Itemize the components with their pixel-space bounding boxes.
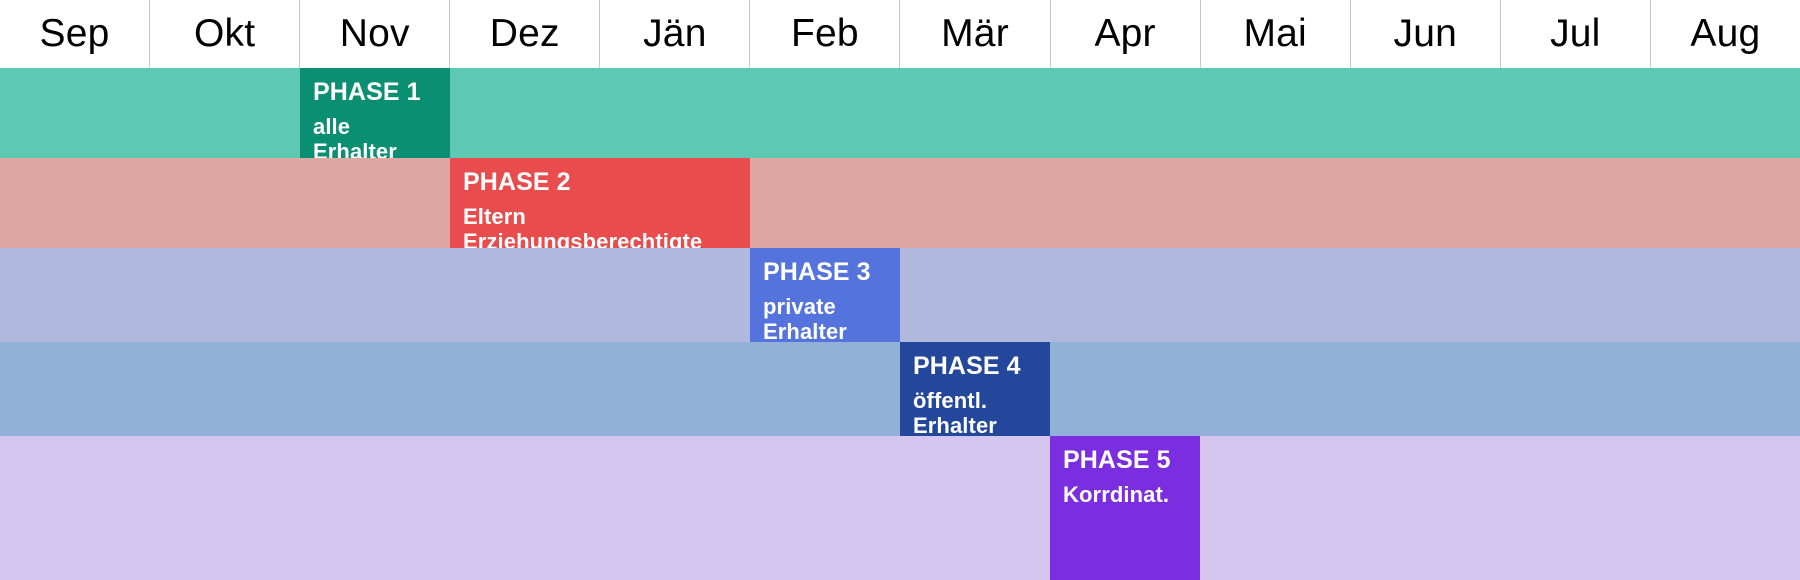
- row-month-track: [0, 158, 1800, 248]
- row-month-track: [0, 248, 1800, 342]
- row-month-cell: [600, 68, 750, 158]
- row-month-cell: [150, 68, 300, 158]
- row-month-cell: [0, 436, 150, 580]
- row-month-cell: [1050, 248, 1200, 342]
- row-month-cell: [1650, 436, 1800, 580]
- phase-block-5[interactable]: PHASE 5Korrdinat.: [1050, 436, 1200, 580]
- phase-block-subtitle-1: private: [763, 294, 900, 320]
- phase-block-3[interactable]: PHASE 3privateErhalter: [750, 248, 900, 342]
- row-month-cell: [450, 436, 600, 580]
- row-month-cell: [900, 436, 1050, 580]
- month-label: Mai: [1243, 12, 1306, 56]
- row-month-cell: [300, 436, 450, 580]
- row-month-cell: [600, 248, 750, 342]
- row-month-track: [0, 436, 1800, 580]
- phase-block-subtitle-1: Eltern: [463, 204, 750, 230]
- row-month-cell: [750, 158, 900, 248]
- month-label: Apr: [1094, 12, 1155, 56]
- row-month-cell: [150, 342, 300, 436]
- row-month-cell: [900, 158, 1050, 248]
- row-month-cell: [0, 248, 150, 342]
- phase-block-subtitle-2: Erhalter: [763, 319, 900, 342]
- row-month-cell: [300, 158, 450, 248]
- row-month-cell: [1200, 68, 1350, 158]
- row-month-cell: [1650, 248, 1800, 342]
- month-header-feb: Feb: [750, 0, 900, 68]
- row-month-cell: [750, 436, 900, 580]
- row-month-cell: [1500, 342, 1650, 436]
- row-month-cell: [0, 68, 150, 158]
- month-header-dez: Dez: [450, 0, 600, 68]
- phase-block-4[interactable]: PHASE 4öffentl.Erhalter: [900, 342, 1050, 436]
- row-month-cell: [1650, 342, 1800, 436]
- month-header-aug: Aug: [1651, 0, 1800, 68]
- phase-row-2: PHASE 2ElternErziehungsberechtigte: [0, 158, 1800, 248]
- row-month-cell: [1050, 68, 1200, 158]
- row-month-cell: [150, 158, 300, 248]
- row-month-cell: [1500, 68, 1650, 158]
- row-month-cell: [1650, 158, 1800, 248]
- phase-block-title: PHASE 3: [763, 257, 900, 288]
- phase-block-title: PHASE 5: [1063, 445, 1200, 476]
- phase-timeline-chart: SepOktNovDezJänFebMärAprMaiJunJulAug PHA…: [0, 0, 1800, 580]
- phase-row-4: PHASE 4öffentl.Erhalter: [0, 342, 1800, 436]
- row-month-cell: [0, 158, 150, 248]
- row-month-cell: [1650, 68, 1800, 158]
- phase-block-title: PHASE 2: [463, 167, 750, 198]
- row-month-cell: [150, 436, 300, 580]
- row-month-cell: [0, 342, 150, 436]
- phase-block-2[interactable]: PHASE 2ElternErziehungsberechtigte: [450, 158, 750, 248]
- row-month-cell: [1050, 342, 1200, 436]
- row-month-cell: [1050, 158, 1200, 248]
- month-header-sep: Sep: [0, 0, 150, 68]
- row-month-cell: [450, 248, 600, 342]
- month-label: Jul: [1550, 12, 1600, 56]
- row-month-cell: [300, 248, 450, 342]
- row-month-cell: [1200, 342, 1350, 436]
- row-month-cell: [1350, 342, 1500, 436]
- month-label: Aug: [1690, 12, 1760, 56]
- row-month-cell: [1200, 436, 1350, 580]
- row-month-cell: [1350, 68, 1500, 158]
- row-month-cell: [1200, 248, 1350, 342]
- month-header-apr: Apr: [1051, 0, 1201, 68]
- phase-block-title: PHASE 4: [913, 351, 1050, 382]
- month-label: Okt: [194, 12, 255, 56]
- month-header-nov: Nov: [300, 0, 450, 68]
- month-header-row: SepOktNovDezJänFebMärAprMaiJunJulAug: [0, 0, 1800, 68]
- phase-rows-area: PHASE 1alleErhalterPHASE 2ElternErziehun…: [0, 68, 1800, 580]
- phase-row-5: PHASE 5Korrdinat.: [0, 436, 1800, 580]
- row-month-cell: [750, 68, 900, 158]
- row-month-cell: [900, 248, 1050, 342]
- row-month-cell: [1350, 436, 1500, 580]
- row-month-cell: [900, 68, 1050, 158]
- month-label: Nov: [340, 12, 410, 56]
- row-month-cell: [1500, 248, 1650, 342]
- phase-block-1[interactable]: PHASE 1alleErhalter: [300, 68, 450, 158]
- month-label: Jän: [643, 12, 706, 56]
- phase-block-subtitle-1: öffentl.: [913, 388, 1050, 414]
- month-label: Dez: [490, 12, 560, 56]
- row-month-cell: [300, 342, 450, 436]
- row-month-cell: [450, 68, 600, 158]
- phase-block-subtitle-1: Korrdinat.: [1063, 482, 1200, 508]
- phase-row-1: PHASE 1alleErhalter: [0, 68, 1800, 158]
- month-header-mai: Mai: [1201, 0, 1351, 68]
- row-month-cell: [600, 436, 750, 580]
- phase-row-3: PHASE 3privateErhalter: [0, 248, 1800, 342]
- month-label: Mär: [941, 12, 1009, 56]
- row-month-cell: [150, 248, 300, 342]
- month-header-jul: Jul: [1501, 0, 1651, 68]
- phase-block-subtitle-2: Erhalter: [313, 139, 450, 158]
- row-month-cell: [1200, 158, 1350, 248]
- phase-block-subtitle-2: Erziehungsberechtigte: [463, 229, 750, 248]
- row-month-cell: [450, 342, 600, 436]
- month-header-jän: Jän: [600, 0, 750, 68]
- month-label: Jun: [1394, 12, 1457, 56]
- row-month-cell: [1350, 248, 1500, 342]
- month-header-jun: Jun: [1351, 0, 1501, 68]
- row-month-cell: [600, 342, 750, 436]
- row-month-track: [0, 68, 1800, 158]
- month-header-mär: Mär: [900, 0, 1050, 68]
- phase-block-subtitle-2: Erhalter: [913, 413, 1050, 436]
- month-header-okt: Okt: [150, 0, 300, 68]
- row-month-cell: [750, 342, 900, 436]
- phase-block-title: PHASE 1: [313, 77, 450, 108]
- row-month-cell: [1500, 436, 1650, 580]
- month-label: Sep: [40, 12, 110, 56]
- phase-block-subtitle-1: alle: [313, 114, 450, 140]
- row-month-cell: [1350, 158, 1500, 248]
- month-label: Feb: [791, 12, 859, 56]
- row-month-cell: [1500, 158, 1650, 248]
